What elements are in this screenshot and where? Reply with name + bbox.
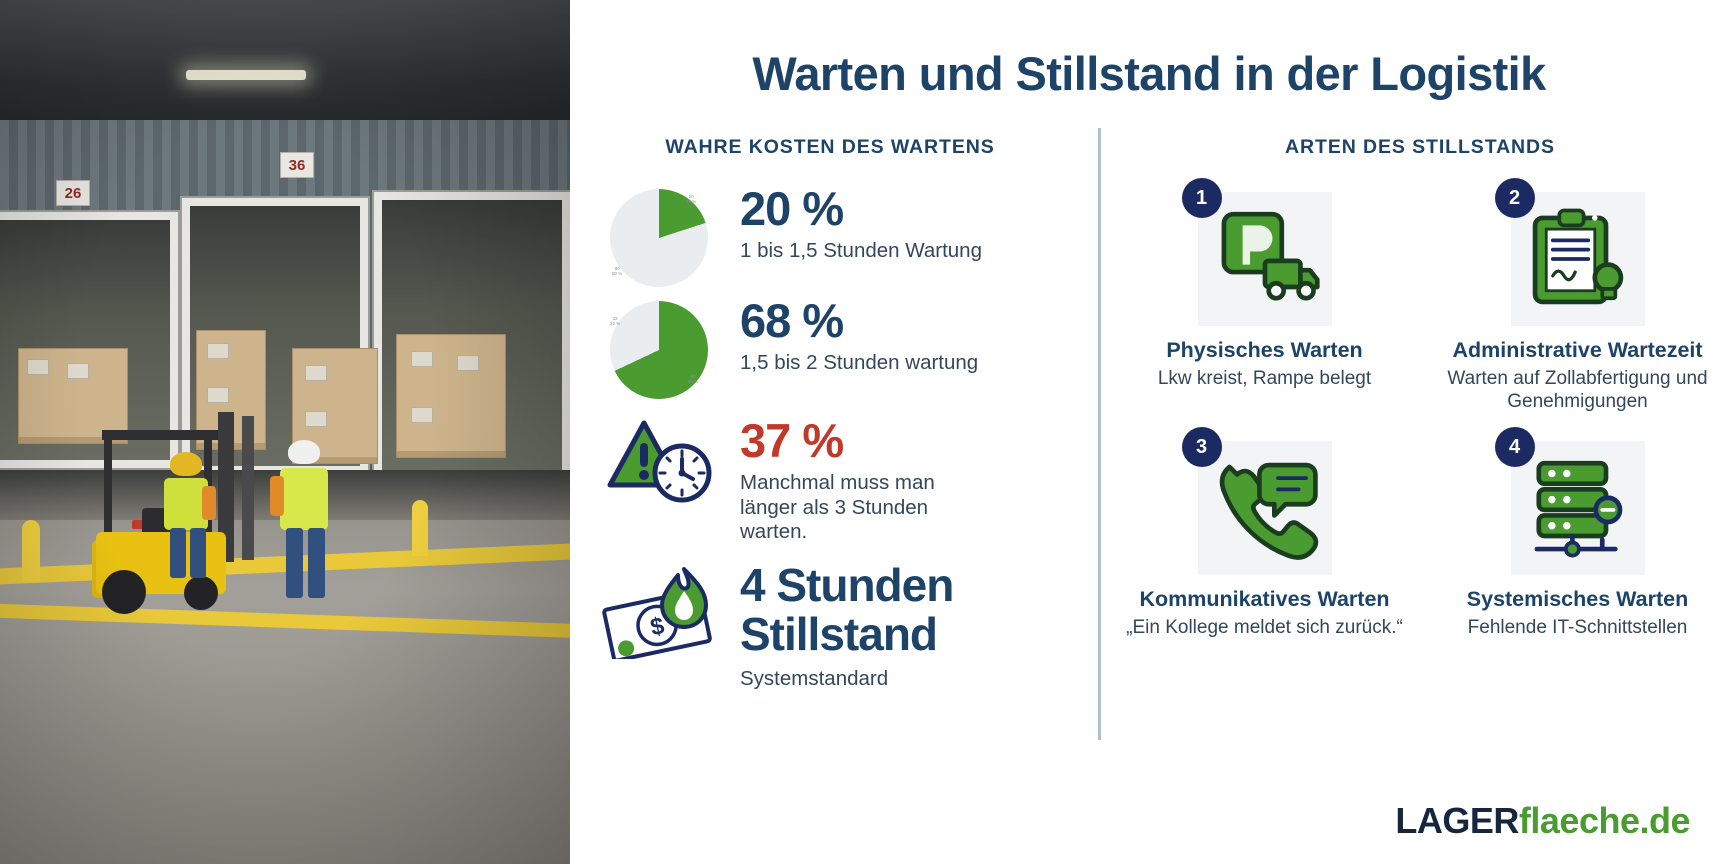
money-flame-icon: $ xyxy=(594,563,724,659)
card-subtitle: Warten auf Zollabfertigung und Genehmigu… xyxy=(1428,368,1727,414)
stat-row: $ 4 Stunden Stillstand Systemstandard xyxy=(584,559,1084,692)
column-divider xyxy=(1098,128,1101,740)
card-title: Systemisches Warten xyxy=(1428,587,1727,612)
stat-caption: Manchmal muss man länger als 3 Stunden w… xyxy=(740,471,980,545)
card-kommunikatives-warten[interactable]: 3 Kommunikatives Warten „Ein Koll xyxy=(1115,419,1414,640)
stat-visual: 2020 % 8080 % xyxy=(584,185,734,287)
stat-value: 4 Stunden Stillstand xyxy=(740,561,1084,660)
yellow-bollard-1 xyxy=(22,520,40,582)
lagerflaeche-logo[interactable]: LAGERflaeche.de xyxy=(1395,800,1690,842)
stat-caption: 1 bis 1,5 Stunden Wartung xyxy=(740,239,1020,264)
right-column-heading: ARTEN DES STILLSTANDS xyxy=(1110,136,1728,159)
stat-text: 37 % Manchmal muss man länger als 3 Stun… xyxy=(734,409,1084,545)
stat-visual: 6868 % 3232 % xyxy=(584,297,734,399)
logo-part-lager: LAGER xyxy=(1395,800,1519,841)
yellow-bollard-2 xyxy=(412,500,428,556)
types-of-standstill-cards: 1 Physisches Warten Lkw kreist, Rampe xyxy=(1115,176,1727,640)
stat-text: 4 Stunden Stillstand Systemstandard xyxy=(734,559,1084,692)
stat-caption: 1,5 bis 2 Stunden wartung xyxy=(740,351,1020,376)
card-subtitle: Lkw kreist, Rampe belegt xyxy=(1115,368,1414,391)
stat-row: 6868 % 3232 % 68 % 1,5 bis 2 Stunden war… xyxy=(584,297,1084,399)
ceiling-lamp-icon xyxy=(186,70,306,80)
left-column-heading: WAHRE KOSTEN DES WARTENS xyxy=(580,136,1080,159)
card-administrative-wartezeit[interactable]: 2 xyxy=(1428,176,1727,413)
card-subtitle: „Ein Kollege meldet sich zurück.“ xyxy=(1115,617,1414,640)
warehouse-loading-dock-photo: 26 36 xyxy=(0,0,570,864)
cost-of-waiting-stats: 2020 % 8080 % 20 % 1 bis 1,5 Stunden War… xyxy=(584,185,1084,702)
stat-value: 37 % xyxy=(740,417,1084,464)
card-icon-wrap: 3 xyxy=(1198,441,1332,575)
stat-visual: $ xyxy=(584,559,734,659)
stat-caption: Systemstandard xyxy=(740,667,1020,692)
infographic-page: 26 36 xyxy=(0,0,1728,864)
warning-clock-icon xyxy=(604,413,714,503)
stat-visual xyxy=(584,409,734,503)
card-physisches-warten[interactable]: 1 Physisches Warten Lkw kreist, Rampe xyxy=(1115,176,1414,413)
forklift-operator xyxy=(158,452,218,592)
card-subtitle: Fehlende IT-Schnittstellen xyxy=(1428,617,1727,640)
stat-text: 68 % 1,5 bis 2 Stunden wartung xyxy=(734,297,1084,376)
card-icon-wrap: 2 xyxy=(1511,192,1645,326)
dock-number-sign-right: 36 xyxy=(280,152,314,178)
parking-truck-icon xyxy=(1198,192,1332,326)
stat-row: 2020 % 8080 % 20 % 1 bis 1,5 Stunden War… xyxy=(584,185,1084,287)
dock-worker xyxy=(274,440,338,604)
pie-chart-68: 6868 % 3232 % xyxy=(610,301,708,399)
stat-text: 20 % 1 bis 1,5 Stunden Wartung xyxy=(734,185,1084,264)
server-link-icon xyxy=(1511,441,1645,575)
stat-value: 20 % xyxy=(740,185,1084,232)
card-title: Administrative Wartezeit xyxy=(1428,338,1727,363)
card-systemisches-warten[interactable]: 4 xyxy=(1428,419,1727,640)
pallet-cargo-4 xyxy=(396,334,506,458)
stat-row: 37 % Manchmal muss man länger als 3 Stun… xyxy=(584,409,1084,545)
card-title: Kommunikatives Warten xyxy=(1115,587,1414,612)
card-badge-3: 3 xyxy=(1182,427,1222,467)
card-icon-wrap: 1 xyxy=(1198,192,1332,326)
card-icon-wrap: 4 xyxy=(1511,441,1645,575)
clipboard-stamp-icon xyxy=(1511,192,1645,326)
card-badge-4: 4 xyxy=(1495,427,1535,467)
phone-chat-icon xyxy=(1198,441,1332,575)
card-badge-2: 2 xyxy=(1495,178,1535,218)
pie-chart-20: 2020 % 8080 % xyxy=(610,189,708,287)
stat-value: 68 % xyxy=(740,297,1084,344)
logo-part-flaeche: flaeche.de xyxy=(1519,800,1690,841)
card-title: Physisches Warten xyxy=(1115,338,1414,363)
page-title: Warten und Stillstand in der Logistik xyxy=(570,46,1728,101)
content-panel: Warten und Stillstand in der Logistik WA… xyxy=(570,0,1728,864)
card-badge-1: 1 xyxy=(1182,178,1222,218)
dock-number-sign-left: 26 xyxy=(56,180,90,206)
